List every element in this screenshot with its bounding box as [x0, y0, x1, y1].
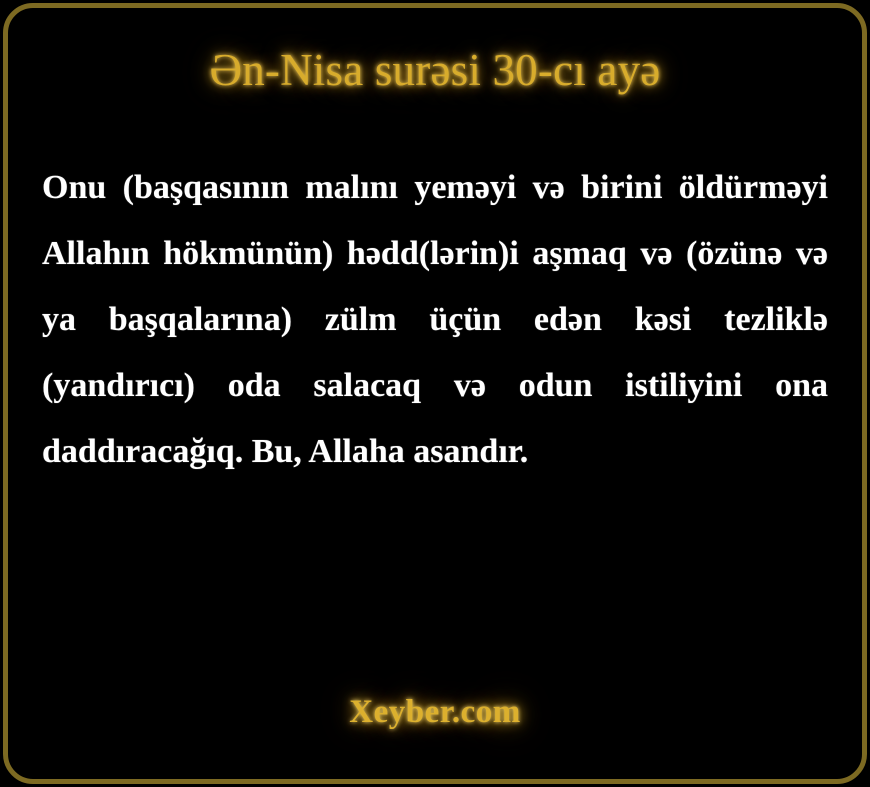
- page-title: Ən-Nisa surəsi 30-cı ayə: [0, 46, 870, 96]
- card-inner: Ən-Nisa surəsi 30-cı ayə Onu (başqasının…: [0, 0, 870, 787]
- verse-card: Ən-Nisa surəsi 30-cı ayə Onu (başqasının…: [0, 0, 870, 787]
- site-watermark: Xeyber.com: [0, 694, 870, 731]
- verse-body-text: Onu (başqasının malını yeməyi və birini …: [42, 155, 828, 485]
